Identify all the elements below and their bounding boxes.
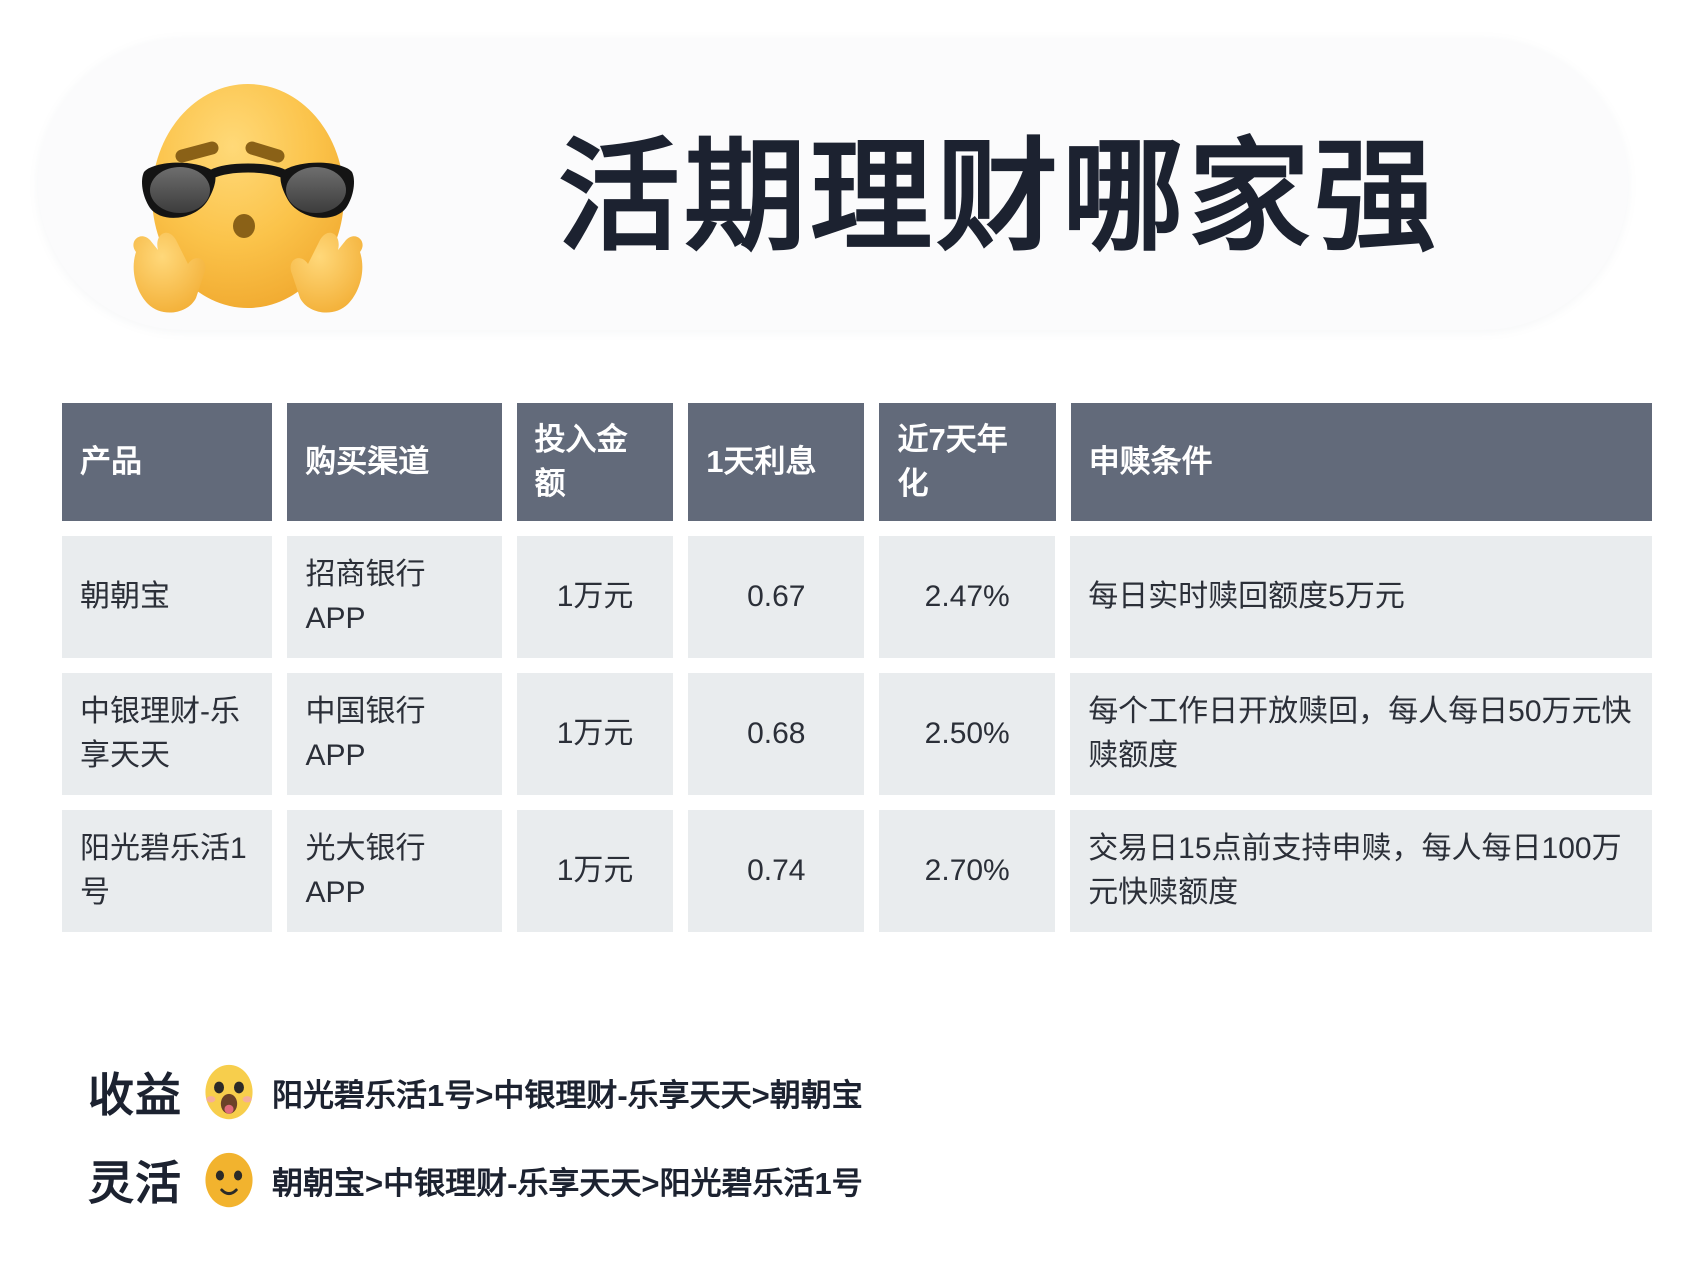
cell-product: 中银理财-乐享天天 [62, 673, 272, 795]
column-header-amount: 投入金额 [517, 403, 674, 521]
summary-label-flexibility: 灵活 [88, 1147, 196, 1213]
summary-text-yield: 阳光碧乐活1号>中银理财-乐享天天>朝朝宝 [272, 1070, 863, 1115]
cell-terms: 每个工作日开放赎回，每人每日50万元快赎额度 [1070, 673, 1652, 795]
cell-channel: 招商银行APP [287, 536, 501, 658]
summary-block: 收益 阳光碧乐活1号>中银理财-乐享天天>朝朝宝 灵活 朝朝宝>中银理财-乐享天… [88, 1048, 1588, 1224]
cell-annualized: 2.47% [879, 536, 1055, 658]
summary-text-flexibility: 朝朝宝>中银理财-乐享天天>阳光碧乐活1号 [272, 1158, 863, 1203]
summary-line-yield: 收益 阳光碧乐活1号>中银理财-乐享天天>朝朝宝 [88, 1048, 1588, 1136]
table-header-row: 产品 购买渠道 投入金额 1天利息 近7天年化 申赎条件 [62, 403, 1652, 521]
cell-amount: 1万元 [517, 810, 673, 932]
header-banner: 活期理财哪家强 [38, 38, 1628, 330]
column-header-channel: 购买渠道 [287, 403, 501, 521]
cool-sunglasses-hands-up-emoji [118, 74, 378, 322]
cell-amount: 1万元 [517, 536, 673, 658]
cell-channel: 中国银行APP [287, 673, 501, 795]
table-row: 朝朝宝 招商银行APP 1万元 0.67 2.47% 每日实时赎回额度5万元 [62, 536, 1652, 658]
smiling-face-emoji [200, 1151, 258, 1209]
column-header-terms: 申赎条件 [1071, 403, 1652, 521]
comparison-table: 产品 购买渠道 投入金额 1天利息 近7天年化 申赎条件 朝朝宝 招商银行APP… [62, 403, 1652, 947]
cell-channel: 光大银行APP [287, 810, 501, 932]
cell-interest: 0.67 [688, 536, 864, 658]
cell-annualized: 2.50% [879, 673, 1055, 795]
cell-product: 阳光碧乐活1号 [62, 810, 272, 932]
cell-product: 朝朝宝 [62, 536, 272, 658]
astonished-face-emoji [200, 1063, 258, 1121]
cell-interest: 0.74 [688, 810, 864, 932]
cell-annualized: 2.70% [879, 810, 1055, 932]
cell-interest: 0.68 [688, 673, 864, 795]
column-header-annualized: 近7天年化 [879, 403, 1055, 521]
summary-label-yield: 收益 [88, 1059, 196, 1125]
cell-terms: 交易日15点前支持申赎，每人每日100万元快赎额度 [1070, 810, 1652, 932]
table-row: 中银理财-乐享天天 中国银行APP 1万元 0.68 2.50% 每个工作日开放… [62, 673, 1652, 795]
summary-line-flexibility: 灵活 朝朝宝>中银理财-乐享天天>阳光碧乐活1号 [88, 1136, 1588, 1224]
cell-amount: 1万元 [517, 673, 673, 795]
table-row: 阳光碧乐活1号 光大银行APP 1万元 0.74 2.70% 交易日15点前支持… [62, 810, 1652, 932]
column-header-interest: 1天利息 [688, 403, 864, 521]
page-title: 活期理财哪家强 [558, 122, 1440, 272]
cell-terms: 每日实时赎回额度5万元 [1070, 536, 1652, 658]
column-header-product: 产品 [62, 403, 272, 521]
